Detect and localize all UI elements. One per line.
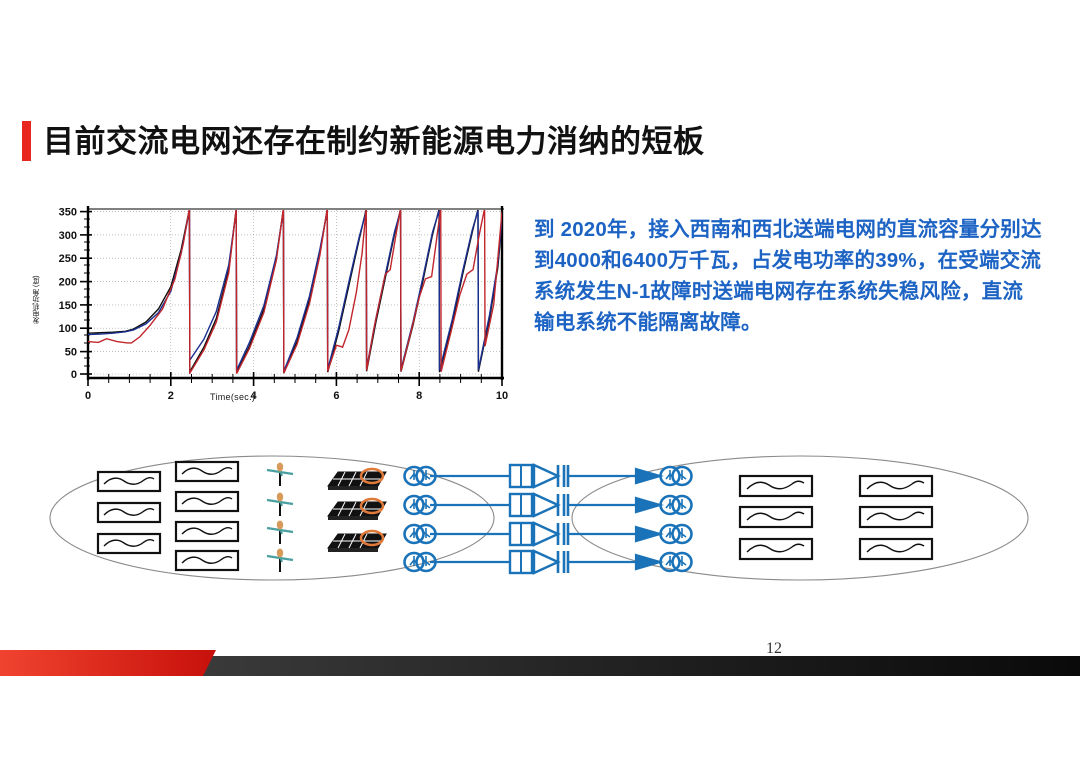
xtick-0: 0 bbox=[85, 390, 91, 402]
ac-source-box bbox=[740, 476, 812, 496]
slide-root: 目前交流电网还存在制约新能源电力消纳的短板 发电机功角 (度) bbox=[0, 0, 1080, 763]
ac-source-group-left-2 bbox=[176, 462, 238, 570]
ytick-50: 50 bbox=[65, 347, 77, 359]
ytick-300: 300 bbox=[59, 230, 77, 242]
ac-source-box bbox=[176, 492, 238, 511]
transformer-icon bbox=[661, 525, 692, 543]
footer-band bbox=[0, 648, 1080, 684]
ac-source-group-right-1 bbox=[740, 476, 812, 559]
xtick-10: 10 bbox=[496, 390, 508, 402]
ytick-200: 200 bbox=[59, 277, 77, 289]
page-title-row: 目前交流电网还存在制约新能源电力消纳的短板 bbox=[22, 118, 705, 164]
ytick-150: 150 bbox=[59, 300, 77, 312]
solar-panel-icon bbox=[328, 469, 386, 490]
ytick-250: 250 bbox=[59, 253, 77, 265]
receiving-transformer-group bbox=[661, 467, 692, 571]
wind-turbine-icon bbox=[267, 463, 293, 487]
solar-panel-icon bbox=[328, 499, 386, 520]
hvdc-converter-group bbox=[510, 465, 568, 573]
flow-arrow-icon bbox=[636, 498, 660, 512]
ac-source-box bbox=[98, 472, 160, 491]
transformer-icon bbox=[661, 467, 692, 485]
ac-source-box bbox=[860, 539, 932, 559]
ytick-350: 350 bbox=[59, 207, 77, 219]
solar-panel-icon bbox=[328, 531, 386, 552]
generator-angle-chart: 发电机功角 (度) bbox=[30, 196, 522, 412]
footer-red-accent bbox=[0, 650, 216, 676]
hvdc-converter-icon bbox=[510, 494, 568, 516]
flow-arrow-icon bbox=[636, 555, 660, 569]
wind-turbine-icon bbox=[267, 549, 293, 573]
hvdc-converter-icon bbox=[510, 465, 568, 487]
diagram-canvas bbox=[40, 450, 1040, 590]
wind-turbine-group bbox=[267, 463, 293, 573]
ac-source-group-left-1 bbox=[98, 472, 160, 553]
chart-x-tick-labels: 0 2 4 6 8 10 bbox=[85, 390, 508, 402]
ac-source-box bbox=[176, 551, 238, 570]
chart-y-tick-labels: 0 50 100 150 200 250 300 350 bbox=[59, 207, 77, 381]
title-accent-bar bbox=[22, 121, 31, 161]
ac-source-box bbox=[98, 503, 160, 522]
wind-turbine-icon bbox=[267, 493, 293, 517]
chart-x-axis-label: Time(sec.) bbox=[210, 392, 255, 402]
flow-arrow-icon bbox=[636, 527, 660, 541]
body-paragraph: 到 2020年，接入西南和西北送端电网的直流容量分别达到4000和6400万千瓦… bbox=[534, 214, 1042, 338]
xtick-6: 6 bbox=[333, 390, 339, 402]
page-title: 目前交流电网还存在制约新能源电力消纳的短板 bbox=[43, 126, 705, 157]
transformer-icon bbox=[661, 553, 692, 571]
footer-shapes bbox=[0, 648, 1080, 684]
xtick-2: 2 bbox=[168, 390, 174, 402]
ac-source-box bbox=[860, 476, 932, 496]
hvdc-converter-icon bbox=[510, 551, 568, 573]
chart-canvas: 0 50 100 150 200 250 300 350 bbox=[30, 196, 522, 412]
ac-source-box bbox=[740, 539, 812, 559]
xtick-8: 8 bbox=[416, 390, 422, 402]
ac-source-box bbox=[860, 507, 932, 527]
wind-turbine-icon bbox=[267, 521, 293, 545]
footer-dark-bar bbox=[200, 656, 1080, 676]
grid-topology-diagram bbox=[40, 450, 1040, 590]
ytick-100: 100 bbox=[59, 323, 77, 335]
ac-source-box bbox=[176, 522, 238, 541]
ac-source-box bbox=[98, 534, 160, 553]
sending-transformer-group bbox=[405, 467, 436, 571]
flow-arrow-icon bbox=[636, 469, 660, 483]
ac-source-box bbox=[740, 507, 812, 527]
ac-source-box bbox=[176, 462, 238, 481]
ytick-0: 0 bbox=[71, 369, 77, 381]
ac-source-group-right-2 bbox=[860, 476, 932, 559]
solar-panel-group bbox=[328, 469, 386, 552]
dc-transmission-lines-left bbox=[430, 476, 510, 562]
transformer-icon bbox=[661, 496, 692, 514]
hvdc-converter-icon bbox=[510, 523, 568, 545]
